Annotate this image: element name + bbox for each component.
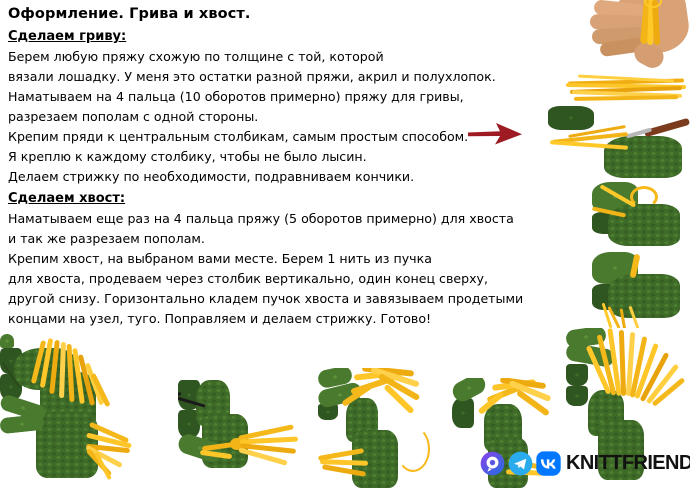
- photo-hand-holding-yarn-loops: [582, 0, 690, 70]
- red-arrow-icon: [466, 121, 524, 147]
- instruction-line: Крепим хвост, на выбраном вами месте. Бе…: [8, 249, 538, 269]
- instruction-line: Я креплю к каждому столбику, чтобы не бы…: [8, 147, 538, 167]
- instruction-line: разрезаем пополам с одной стороны.: [8, 107, 538, 127]
- section-heading-tail-wrap: Сделаем хвост:: [8, 187, 538, 209]
- photo-horse-tail-tied: [178, 380, 313, 488]
- instruction-line: Наматываем на 4 пальца (10 оборотов прим…: [8, 87, 538, 107]
- instruction-line: другой снизу. Горизонтально кладем пучок…: [8, 289, 538, 309]
- photo-yarn-loop-pulled-through: [592, 182, 690, 250]
- photo-horse-with-mane-and-tail-front: [0, 334, 200, 488]
- instruction-line: Крепим пряди к центральным столбикам, са…: [8, 127, 538, 147]
- section-heading-mane: Сделаем гриву:: [8, 27, 126, 47]
- instructions-text-column: Оформление. Грива и хвост. Сделаем гриву…: [8, 4, 538, 329]
- instruction-line: концами на узел, туго. Поправляем и дела…: [8, 309, 538, 329]
- telegram-icon[interactable]: [508, 451, 533, 476]
- photo-mane-strand-secured: [592, 252, 690, 332]
- photo-cut-yarn-strands: [560, 74, 690, 106]
- section-heading-tail: Сделаем хвост:: [8, 189, 125, 209]
- photo-horse-side-view: [318, 368, 448, 488]
- brand-watermark: KNITTFRIENDS: [480, 450, 690, 476]
- instruction-line: Наматываем еще раз на 4 пальца пряжу (5 …: [8, 209, 538, 229]
- page-title: Оформление. Грива и хвост.: [8, 4, 538, 24]
- tutorial-page: Оформление. Грива и хвост. Сделаем гриву…: [0, 0, 690, 488]
- instruction-line: и так же разрезаем пополам.: [8, 229, 538, 249]
- instruction-line: Берем любую пряжу схожую по толщине с то…: [8, 47, 538, 67]
- section-heading-mane-wrap: Сделаем гриву:: [8, 25, 538, 47]
- photo-attaching-yarn-with-hook: [548, 106, 690, 180]
- instruction-line: вязали лошадку. У меня это остатки разно…: [8, 67, 538, 87]
- vk-icon[interactable]: [536, 451, 561, 476]
- odnoklassniki-icon[interactable]: [480, 451, 505, 476]
- instruction-line: для хвоста, продеваем через столбик верт…: [8, 269, 538, 289]
- instruction-line: Делаем стрижку по необходимости, подравн…: [8, 167, 538, 187]
- brand-name: KNITTFRIENDS: [566, 451, 690, 476]
